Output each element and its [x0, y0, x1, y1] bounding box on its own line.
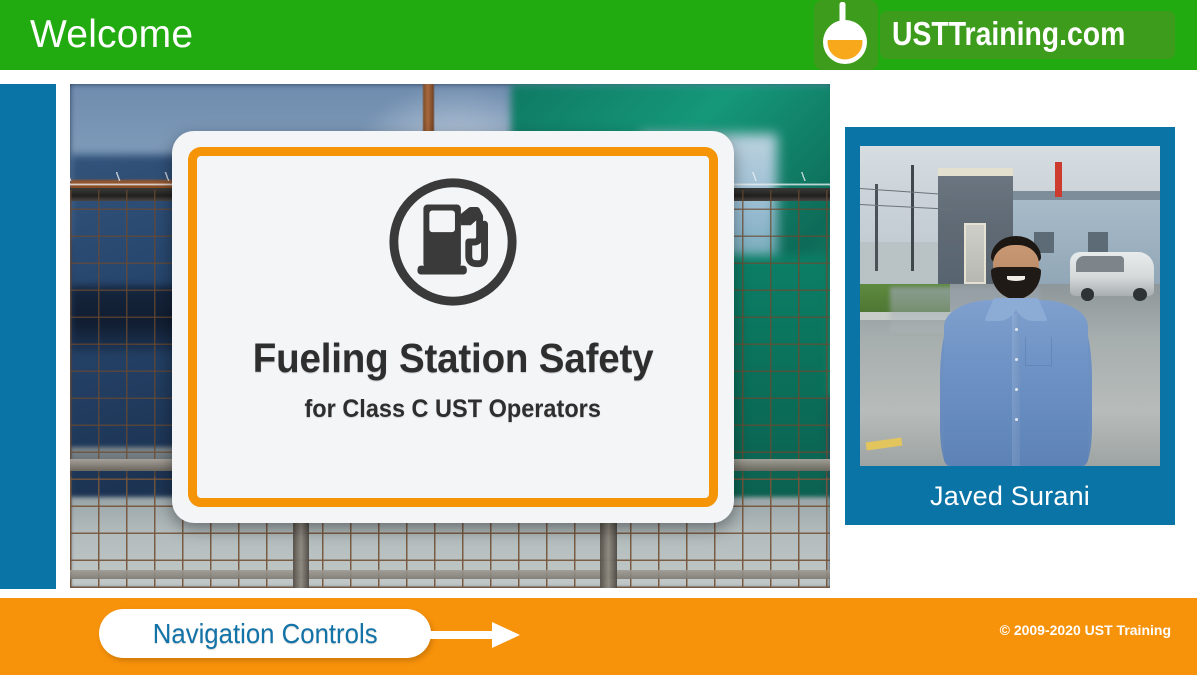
- brand-logo[interactable]: USTTraining.com: [814, 0, 1175, 70]
- flask-icon: [814, 0, 878, 70]
- presenter-photo: [860, 146, 1160, 466]
- fuel-pump-icon: [384, 173, 522, 311]
- copyright-text: © 2009-2020 UST Training: [1000, 622, 1171, 638]
- sign-title: Fueling Station Safety: [253, 335, 654, 382]
- app-footer: Navigation Controls © 2009-2020 UST Trai…: [0, 598, 1197, 675]
- presenter-figure: [938, 236, 1094, 466]
- navigation-controls-button[interactable]: Navigation Controls: [99, 609, 431, 658]
- presenter-name: Javed Surani: [845, 467, 1175, 525]
- sign-subtitle: for Class C UST Operators: [305, 395, 601, 424]
- logo-text: USTTraining.com: [892, 17, 1125, 51]
- right-arrow-icon: [420, 622, 520, 648]
- sidebar-accent-strip: [0, 84, 56, 589]
- course-title-sign: Fueling Station Safety for Class C UST O…: [172, 131, 734, 523]
- navigation-controls-label: Navigation Controls: [153, 618, 378, 650]
- app-header: Welcome USTTraining.com: [0, 0, 1197, 70]
- page-title: Welcome: [30, 13, 193, 57]
- presenter-card: Javed Surani: [845, 127, 1175, 525]
- logo-text-plate: USTTraining.com: [880, 11, 1175, 59]
